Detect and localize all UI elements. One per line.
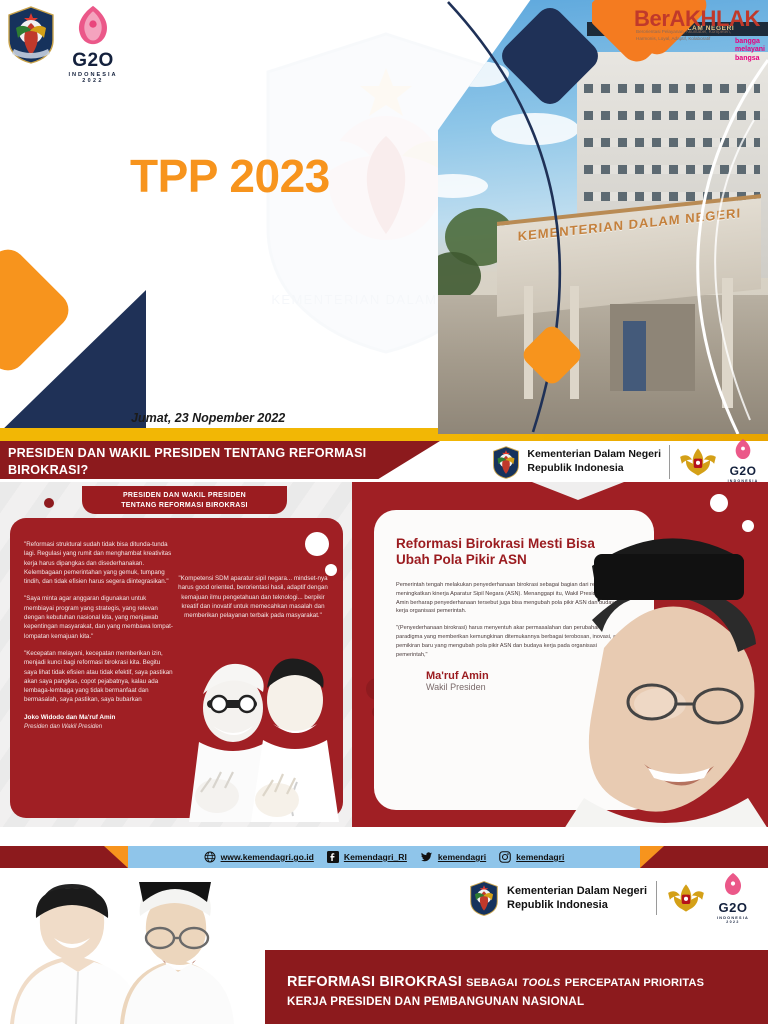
brand-line-1: Kementerian Dalam Negeri [507,884,647,898]
quote-card: "Reformasi struktural sudah tidak bisa d… [10,518,343,818]
instagram-link[interactable]: kemendagri [499,851,564,863]
garuda-pancasila-icon [678,445,718,479]
slide-2-infographic: PRESIDEN DAN WAKIL PRESIDEN TENTANG REFO… [0,434,768,868]
left-infographic-panel: PRESIDEN DAN WAKIL PRESIDEN TENTANG REFO… [0,482,352,827]
twitter-label: kemendagri [438,852,486,862]
brand-line-2: Republik Indonesia [507,898,647,912]
website-label: www.kemendagri.go.id [221,852,314,862]
banner-italic: TOOLS [522,977,561,989]
g20-ornament-icon [717,872,749,896]
gold-top-strip [0,434,768,441]
kemendagri-branding-slide3: Kementerian Dalam Negeri Republik Indone… [470,876,751,920]
brand-line-2: Republik Indonesia [527,462,661,476]
instagram-label: kemendagri [516,852,564,862]
g20-logo-slide2: G2O INDONESIA 2022 [726,438,760,487]
left-quotes-column: "Reformasi struktural sudah tidak bisa d… [24,540,174,732]
social-media-bar: www.kemendagri.go.id Kemendagri_RI kemen… [0,846,768,868]
kemendagri-logo-icon [8,6,54,64]
ministry-building-photo: KEMENTERIAN DALAM NEGERI KEMENTERIAN DAL… [438,0,768,434]
banner-line-1: REFORMASI BIROKRASI SEBAGAI TOOLS PERCEP… [287,974,704,990]
berakhlak-subtitle: Berorientasi Pelayanan, Akuntabel, Kompe… [636,29,751,42]
jokowi-maruf-cartoon [177,632,347,822]
slide-2-header-text: PRESIDEN DAN WAKIL PRESIDEN TENTANG REFO… [8,445,428,480]
kemendagri-logo-icon [493,446,519,479]
chevron-down-icon [532,482,624,500]
quote-right: "Kompetensi SDM aparatur sipil negara...… [173,574,333,620]
tagline-line-2: melayani [735,46,765,53]
banner-line-2: KERJA PRESIDEN DAN PEMBANGUNAN NASIONAL [287,995,584,1008]
maruf-amin-portrait [548,528,768,827]
berakhlak-logo: BerAKHLAK Berorientasi Pelayanan, Akunta… [592,0,768,64]
pill-line-1: PRESIDEN DAN WAKIL PRESIDEN [123,492,246,499]
twitter-icon [420,851,433,863]
facebook-label: Kemendagri_RI [344,852,407,862]
closing-banner: REFORMASI BIROKRASI SEBAGAI TOOLS PERCEP… [265,950,768,1024]
g20-logo-slide3: G2O INDONESIA 2022 [715,872,751,924]
g20-year: 2022 [64,78,122,84]
g20-wordmark: G2O [726,465,760,477]
twitter-link[interactable]: kemendagri [420,851,486,863]
jokowi-maruf-photo [0,882,270,1024]
tagline-line-3: bangsa [735,55,760,62]
brand-text-slide3: Kementerian Dalam Negeri Republik Indone… [507,884,647,913]
quote-2: "Saya minta agar anggaran digunakan untu… [24,594,174,640]
kemendagri-branding-slide2: Kementerian Dalam Negeri Republik Indone… [493,442,760,482]
g20-wordmark: G2O [64,51,122,70]
banner-small-1: SEBAGAI [466,977,518,989]
g20-logo-top: G2O INDONESIA 2022 [64,4,122,84]
presentation-page: KEMENTERIAN DALAM NEGERI [0,0,768,1024]
slide-1-cover: KEMENTERIAN DALAM NEGERI [0,0,768,434]
g20-wordmark: G2O [715,901,751,914]
slide-date: Jumat, 23 Nopember 2022 [131,411,285,425]
kemendagri-logo-icon [470,881,498,916]
facebook-icon [327,851,339,863]
attrib-name: Joko Widodo dan Ma'ruf Amin [24,713,174,723]
website-link[interactable]: www.kemendagri.go.id [204,851,314,863]
instagram-icon [499,851,511,863]
right-infographic-panel: Reformasi Birokrasi Mesti Bisa Ubah Pola… [352,482,768,827]
brand-divider [656,881,657,915]
social-links: www.kemendagri.go.id Kemendagri_RI kemen… [128,846,640,868]
brand-divider [669,445,670,479]
facebook-link[interactable]: Kemendagri_RI [327,851,407,863]
pill-line-2: TENTANG REFORMASI BIROKRASI [121,502,248,509]
globe-icon [204,851,216,863]
g20-year: 2022 [715,920,751,924]
slide-3-closing: Kementerian Dalam Negeri Republik Indone… [0,868,768,1024]
g20-ornament-icon [64,4,122,46]
g20-ornament-icon [728,438,758,460]
berakhlak-tagline: bangga melayani bangsa [735,38,765,63]
banner-strong: REFORMASI BIROKRASI [287,974,462,990]
brand-text-slide2: Kementerian Dalam Negeri Republik Indone… [527,448,661,475]
decorative-swoosh [438,0,768,434]
garuda-pancasila-icon [666,881,706,915]
slide-title: TPP 2023 [130,149,330,203]
attrib-role: Presiden dan Wakil Presiden [24,722,174,731]
heading-line-2: Ubah Pola Pikir ASN [396,552,527,567]
right-quote-column: "Kompetensi SDM aparatur sipil negara...… [173,574,333,620]
infographic-title-pill: PRESIDEN DAN WAKIL PRESIDEN TENTANG REFO… [82,486,287,514]
brand-line-1: Kementerian Dalam Negeri [527,448,661,462]
banner-small-2: PERCEPATAN PRIORITAS [565,977,704,989]
left-attribution: Joko Widodo dan Ma'ruf Amin Presiden dan… [24,713,174,732]
quote-1: "Reformasi struktural sudah tidak bisa d… [24,540,174,586]
quote-3: "Kecepatan melayani, kecepatan memberika… [24,649,174,705]
tagline-line-1: bangga [735,38,760,45]
